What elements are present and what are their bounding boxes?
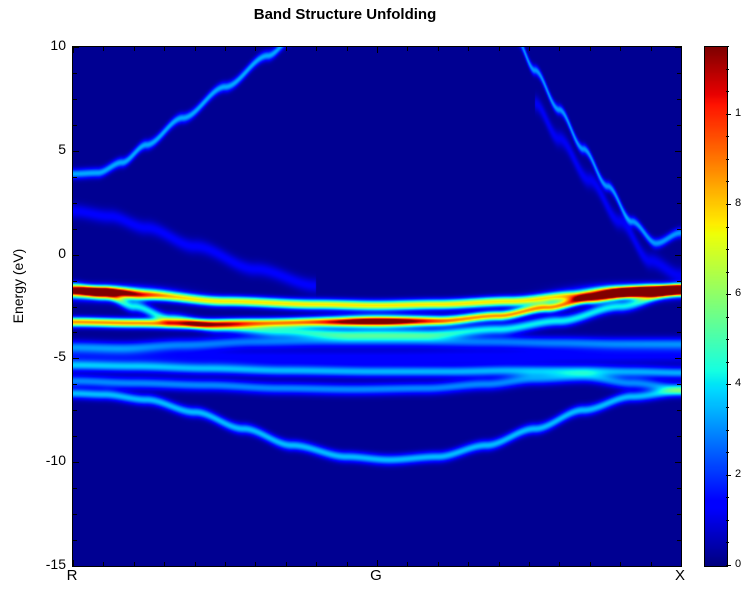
colorbar-tick-mark (726, 362, 729, 363)
x-tick-mark (559, 47, 560, 51)
y-tick-mark (73, 229, 77, 230)
y-tick-label: 10 (6, 37, 66, 53)
y-tick-mark (73, 151, 79, 152)
x-tick-mark (377, 560, 378, 566)
x-tick-label: G (356, 567, 396, 584)
colorbar-tick-mark (726, 294, 731, 295)
x-tick-mark (529, 47, 530, 51)
x-tick-mark (620, 562, 621, 566)
y-tick-mark (73, 384, 77, 385)
y-tick-mark (677, 410, 681, 411)
colorbar-tick-mark (726, 159, 729, 160)
colorbar-tick-mark (726, 136, 729, 137)
colorbar-tick-mark (726, 452, 729, 453)
x-axis: RGX (72, 567, 682, 595)
y-tick-mark (677, 281, 681, 282)
x-tick-mark (316, 47, 317, 51)
colorbar-tick-mark (726, 430, 729, 431)
x-tick-mark (681, 560, 682, 566)
y-tick-mark (677, 73, 681, 74)
colorbar-tick-mark (726, 181, 729, 182)
x-tick-mark (134, 47, 135, 51)
y-tick-label: 0 (6, 245, 66, 261)
x-tick-mark (347, 47, 348, 51)
x-tick-label: X (660, 567, 700, 584)
y-tick-mark (73, 177, 77, 178)
colorbar-tick-mark (726, 407, 729, 408)
x-tick-mark (651, 47, 652, 51)
colorbar-tick-mark (726, 520, 729, 521)
colorbar-tick-label: 10 (735, 107, 741, 119)
y-axis: Energy (eV) 1050-5-10-15 (0, 46, 66, 565)
x-tick-mark (529, 562, 530, 566)
colorbar-tick-mark (726, 227, 729, 228)
x-tick-mark (468, 47, 469, 51)
colorbar-tick-mark (726, 542, 729, 543)
y-tick-label: 5 (6, 141, 66, 157)
x-tick-mark (286, 562, 287, 566)
x-tick-mark (681, 47, 682, 53)
colorbar-tick-mark (726, 91, 729, 92)
y-tick-mark (73, 436, 77, 437)
x-tick-mark (103, 562, 104, 566)
y-tick-mark (677, 540, 681, 541)
y-tick-mark (677, 177, 681, 178)
x-tick-mark (438, 47, 439, 51)
x-tick-mark (559, 562, 560, 566)
x-tick-mark (255, 562, 256, 566)
x-tick-mark (255, 47, 256, 51)
x-tick-mark (468, 562, 469, 566)
y-tick-mark (675, 462, 681, 463)
colorbar-tick-mark (726, 565, 731, 566)
x-tick-mark (195, 562, 196, 566)
y-tick-mark (677, 307, 681, 308)
colorbar-tick-mark (726, 384, 731, 385)
y-tick-mark (73, 358, 79, 359)
x-tick-mark (316, 562, 317, 566)
y-tick-mark (73, 125, 77, 126)
y-tick-mark (73, 514, 77, 515)
colorbar-tick-mark (726, 497, 729, 498)
colorbar-tick-mark (726, 114, 731, 115)
x-tick-mark (438, 562, 439, 566)
colorbar-tick-label: 6 (735, 287, 741, 299)
y-tick-mark (73, 332, 77, 333)
x-tick-mark (73, 47, 74, 53)
y-tick-mark (73, 281, 77, 282)
y-axis-label: Energy (eV) (10, 206, 26, 366)
y-tick-mark (73, 488, 77, 489)
colorbar-tick-mark (726, 317, 729, 318)
y-tick-mark (677, 488, 681, 489)
y-tick-mark (677, 436, 681, 437)
colorbar-tick-mark (726, 272, 729, 273)
page-title: Band Structure Unfolding (0, 6, 690, 23)
colorbar-tick-mark (726, 249, 729, 250)
x-tick-mark (103, 47, 104, 51)
colorbar-ticks: 0246810 (704, 46, 741, 565)
x-tick-mark (590, 47, 591, 51)
y-tick-mark (73, 99, 77, 100)
y-tick-mark (677, 332, 681, 333)
y-tick-mark (677, 514, 681, 515)
colorbar-tick-label: 8 (735, 197, 741, 209)
x-tick-label: R (52, 567, 92, 584)
x-tick-mark (225, 562, 226, 566)
x-tick-mark (164, 562, 165, 566)
y-tick-mark (73, 410, 77, 411)
y-tick-mark (677, 384, 681, 385)
y-tick-mark (73, 255, 79, 256)
colorbar-tick-mark (726, 339, 729, 340)
x-tick-mark (164, 47, 165, 51)
y-tick-mark (73, 73, 77, 74)
x-tick-mark (651, 562, 652, 566)
y-tick-mark (73, 307, 77, 308)
colorbar-tick-label: 2 (735, 468, 741, 480)
y-tick-mark (677, 125, 681, 126)
y-tick-label: -10 (6, 452, 66, 468)
colorbar-tick-mark (726, 475, 731, 476)
x-tick-mark (195, 47, 196, 51)
y-tick-mark (677, 203, 681, 204)
y-tick-mark (73, 540, 77, 541)
x-tick-mark (134, 562, 135, 566)
y-tick-mark (73, 203, 77, 204)
y-tick-mark (677, 229, 681, 230)
plot-area (72, 46, 682, 567)
colorbar-tick-label: 4 (735, 377, 741, 389)
y-tick-mark (675, 151, 681, 152)
y-tick-mark (675, 255, 681, 256)
colorbar-tick-mark (726, 204, 731, 205)
x-tick-mark (620, 47, 621, 51)
spectral-weight-heatmap (73, 47, 681, 566)
x-tick-mark (377, 47, 378, 53)
y-tick-label: -5 (6, 348, 66, 364)
colorbar-tick-label: 0 (735, 558, 741, 570)
x-tick-mark (225, 47, 226, 51)
x-tick-mark (73, 560, 74, 566)
colorbar-tick-mark (726, 46, 729, 47)
x-tick-mark (407, 47, 408, 51)
y-tick-mark (677, 99, 681, 100)
y-tick-mark (73, 462, 79, 463)
x-tick-mark (499, 562, 500, 566)
x-tick-mark (590, 562, 591, 566)
x-tick-mark (286, 47, 287, 51)
x-tick-mark (347, 562, 348, 566)
x-tick-mark (499, 47, 500, 51)
band-structure-figure: Band Structure Unfolding Energy (eV) 105… (0, 0, 741, 599)
colorbar-tick-mark (726, 69, 729, 70)
y-tick-mark (675, 358, 681, 359)
x-tick-mark (407, 562, 408, 566)
